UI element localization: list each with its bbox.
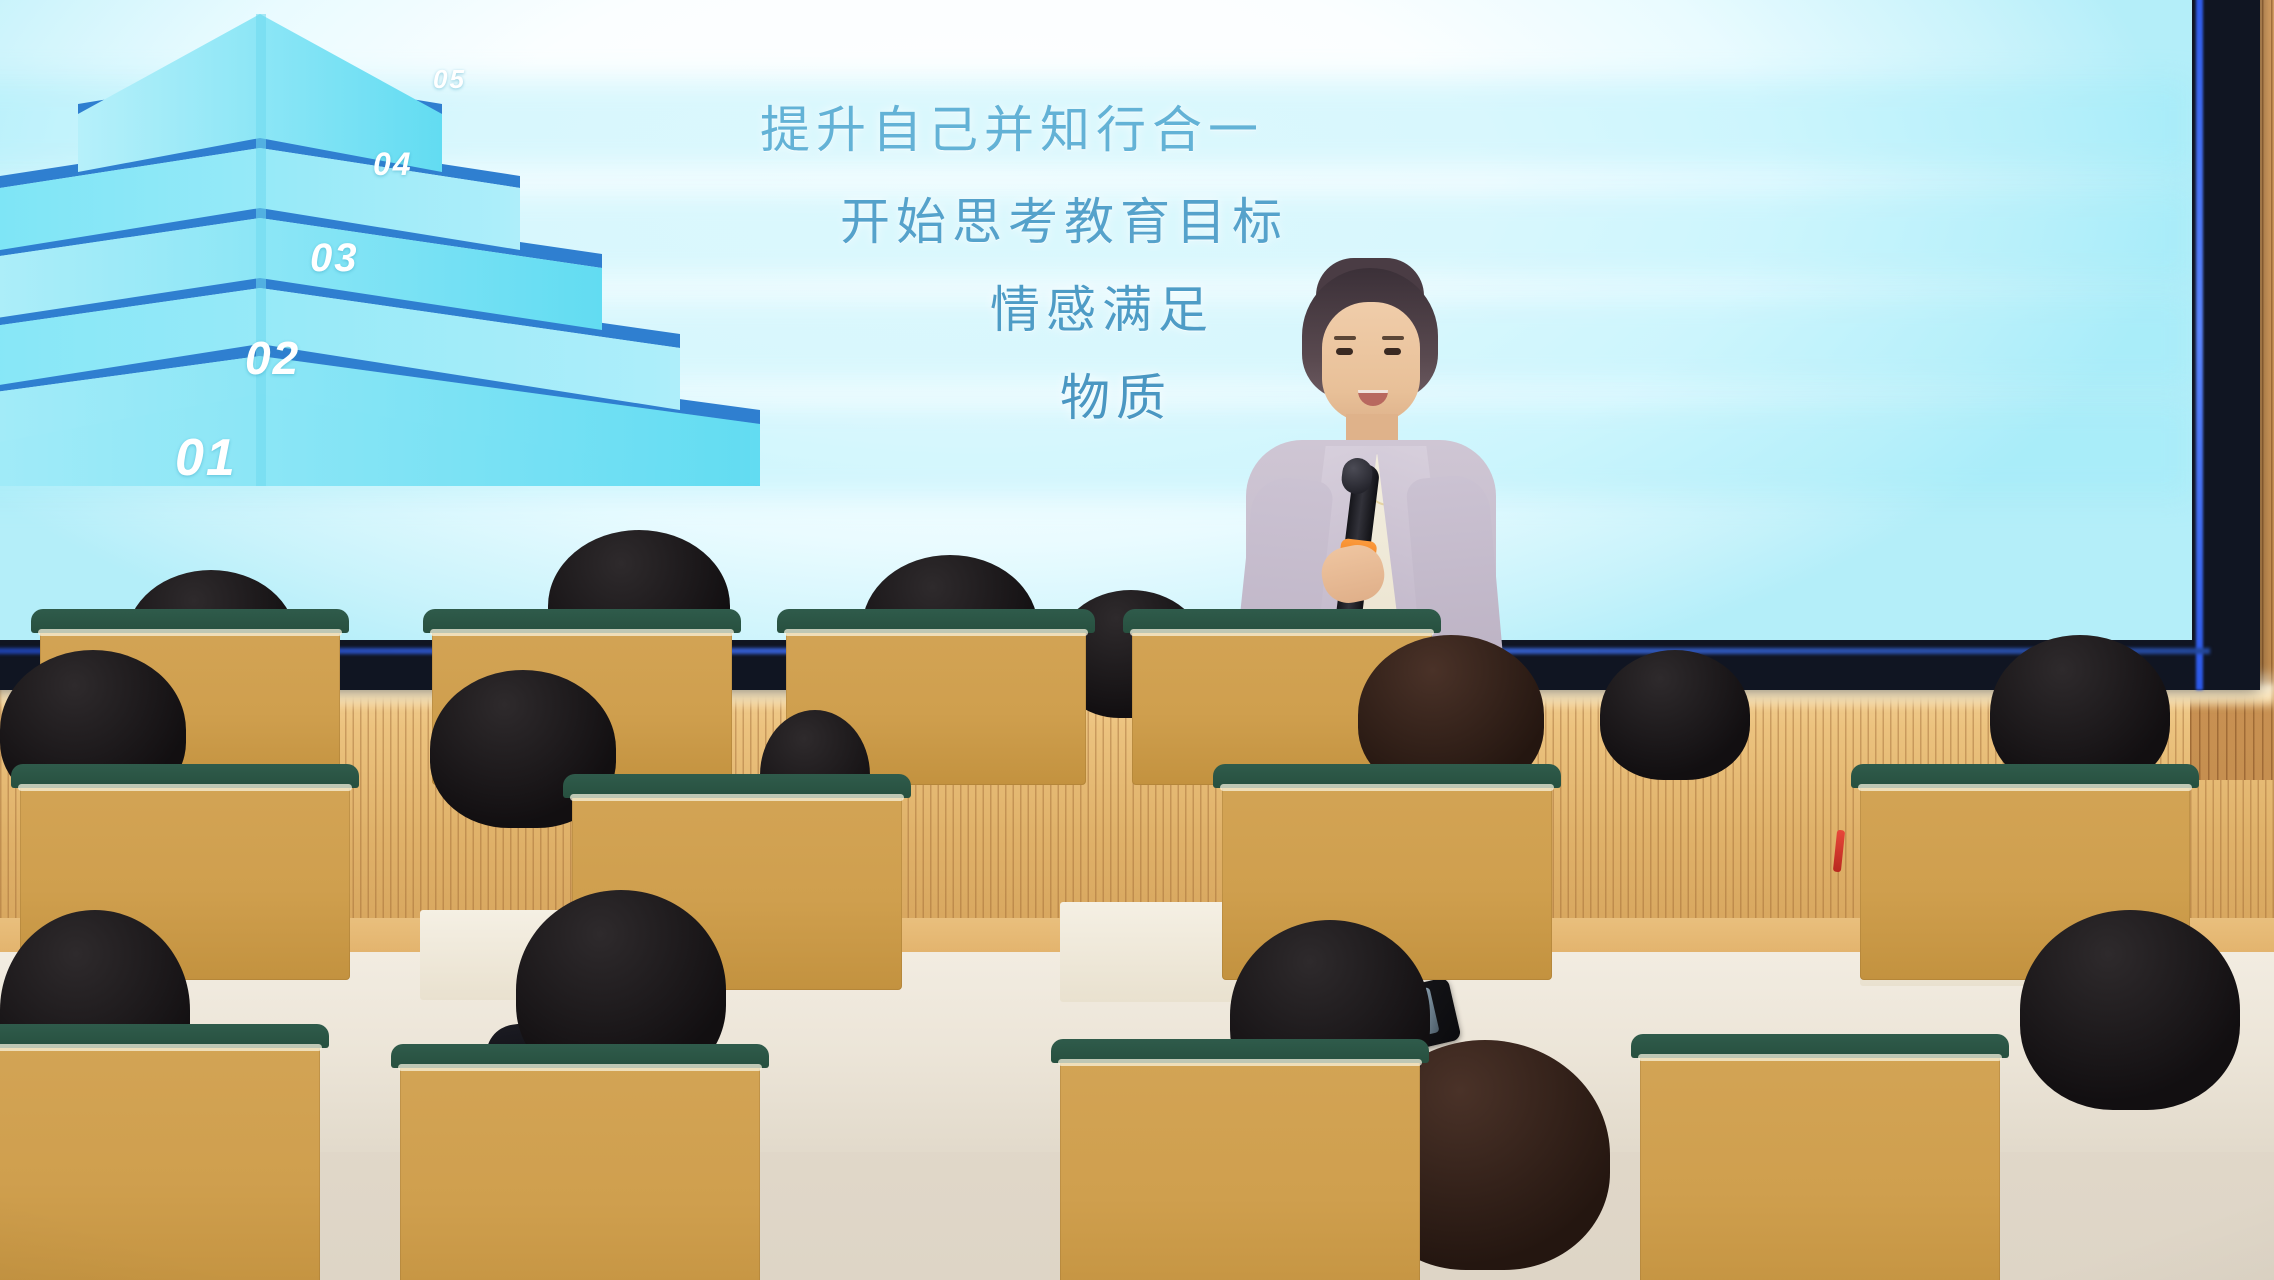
screen-edge-glow-right [2196, 0, 2203, 690]
pyramid-tier-number-05: 05 [433, 64, 466, 95]
auditorium-seat[interactable] [1060, 1055, 1420, 1280]
speaker-eyebrow-left [1334, 336, 1356, 340]
slide-text-line-3: 情感满足 [990, 270, 1214, 342]
pyramid-tier-number-03: 03 [310, 236, 359, 281]
auditorium-seat[interactable] [0, 1040, 320, 1280]
attendee-head [1600, 650, 1750, 780]
pyramid-tier-number-02: 02 [245, 331, 300, 385]
audience-area [0, 980, 2274, 1280]
slide-text-line-2: 开始思考教育目标 [840, 182, 1288, 254]
speaker-eyebrow-right [1382, 336, 1404, 340]
pyramid-svg [0, 0, 760, 486]
slide-text-line-1: 提升自己并知行合一 [760, 90, 1264, 162]
projection-screen: 息 [0, 0, 2192, 640]
attendee-head [2020, 910, 2240, 1110]
speaker-eye-left [1336, 348, 1353, 355]
pyramid-tier-number-04: 04 [373, 146, 413, 183]
pyramid-diagram: 05 04 03 02 01 [0, 0, 760, 406]
auditorium-seat[interactable] [1640, 1050, 2000, 1280]
pyramid-tier-number-01: 01 [175, 428, 237, 488]
slide-text-line-4: 物质 [1060, 358, 1172, 430]
auditorium-seat[interactable] [400, 1060, 760, 1280]
presentation-photo: 息 [0, 0, 2274, 1280]
speaker-eye-right [1384, 348, 1401, 355]
